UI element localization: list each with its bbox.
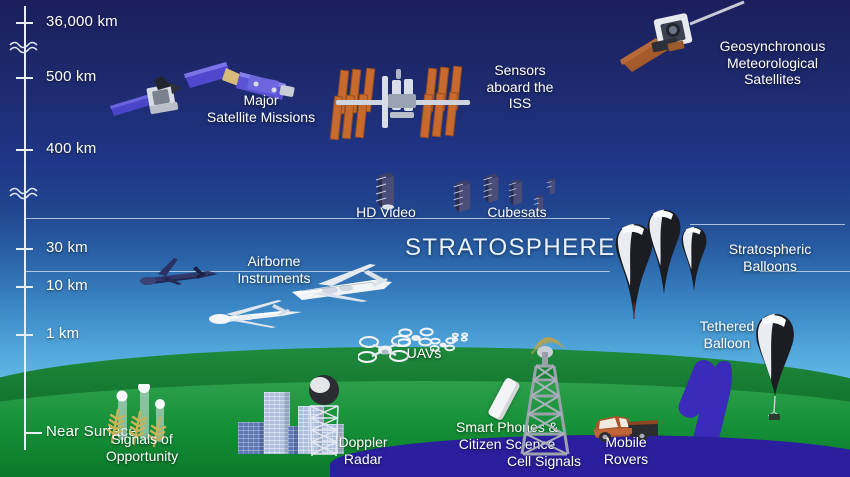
axis-label-400km: 400 km xyxy=(46,141,96,158)
axis-label-1km: 1 km xyxy=(46,326,79,343)
axis-break-icon xyxy=(8,38,42,56)
geosynchronous-satellite-label: Geosynchronous Meteorological Satellites xyxy=(690,38,850,88)
tethered-balloon-label: Tethered Balloon xyxy=(672,318,782,351)
airborne-instruments-label: Airborne Instruments xyxy=(200,253,348,286)
iss-label: Sensors aboard the ISS xyxy=(460,62,580,112)
axis-tick xyxy=(16,286,33,288)
infographic-canvas: 36,000 km 500 km 400 km 30 km 10 km 1 km… xyxy=(0,0,850,477)
stratosphere-label: STRATOSPHERE xyxy=(405,234,616,262)
cubesat-icon-5 xyxy=(545,176,557,198)
axis-tick xyxy=(16,77,33,79)
doppler-radar-label: Doppler Radar xyxy=(318,434,408,467)
quadcopter-icon-tiny xyxy=(452,332,468,343)
signals-of-opportunity-label: Signals of Opportunity xyxy=(78,431,206,464)
cubesat-icon-2 xyxy=(480,170,502,208)
stratospheric-balloon-icon-2 xyxy=(644,208,684,296)
axis-label-10km: 10 km xyxy=(46,278,88,295)
axis-tick xyxy=(16,248,33,250)
hd-video-label: HD Video xyxy=(338,204,434,221)
axis-tick xyxy=(16,334,33,336)
axis-label-36000km: 36,000 km xyxy=(46,14,118,31)
major-satellite-missions-label: Major Satellite Missions xyxy=(176,92,346,125)
axis-tick xyxy=(16,22,33,24)
cubesats-label: Cubesats xyxy=(462,204,572,221)
axis-label-500km: 500 km xyxy=(46,69,96,86)
axis-foot-tick xyxy=(24,432,42,434)
altitude-axis xyxy=(24,6,26,450)
iss-icon xyxy=(330,66,476,142)
mobile-rovers-label: Mobile Rovers xyxy=(578,434,674,467)
axis-label-30km: 30 km xyxy=(46,240,88,257)
axis-tick xyxy=(16,149,33,151)
balloon-line-top xyxy=(690,224,845,225)
stratospheric-balloons-label: Stratospheric Balloons xyxy=(694,241,846,274)
uavs-label: UAVs xyxy=(392,345,456,362)
axis-break-icon xyxy=(8,184,42,202)
cell-tower-icon xyxy=(516,322,572,456)
